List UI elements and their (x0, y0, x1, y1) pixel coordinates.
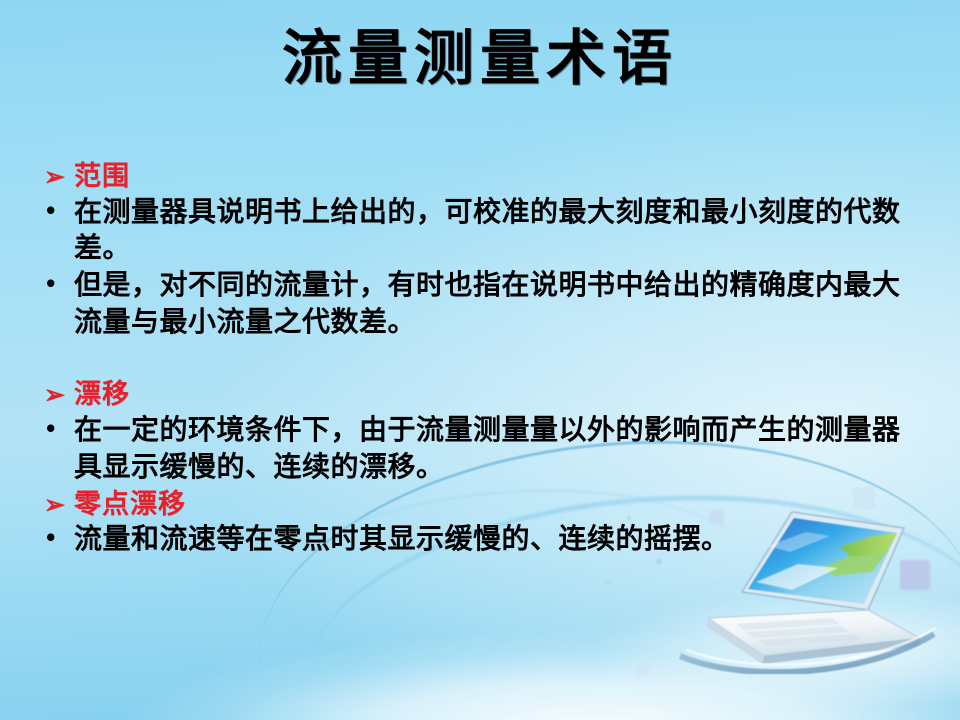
section-spacer (44, 340, 922, 378)
section-heading-scope: ➢ 范围 (44, 160, 922, 194)
arrow-bullet-icon: ➢ (44, 492, 74, 517)
section-heading-label: 漂移 (74, 378, 130, 412)
slide-canvas: 流量测量术语 ➢ 范围 • 在测量器具说明书上给出的，可校准的最大刻度和最小刻度… (0, 0, 960, 720)
list-item: • 在一定的环境条件下，由于流量测量量以外的影响而产生的测量器具显示缓慢的、连续… (44, 412, 922, 485)
section-heading-drift: ➢ 漂移 (44, 378, 922, 412)
list-item: • 在测量器具说明书上给出的，可校准的最大刻度和最小刻度的代数差。 (44, 194, 922, 267)
list-item: • 流量和流速等在零点时其显示缓慢的、连续的摇摆。 (44, 521, 922, 558)
section-heading-label: 零点漂移 (74, 488, 186, 522)
content-body: ➢ 范围 • 在测量器具说明书上给出的，可校准的最大刻度和最小刻度的代数差。 •… (44, 160, 922, 558)
list-item-text: 流量和流速等在零点时其显示缓慢的、连续的摇摆。 (74, 521, 922, 558)
list-item: • 但是，对不同的流量计，有时也指在说明书中给出的精确度内最大流量与最小流量之代… (44, 267, 922, 340)
list-item-text: 但是，对不同的流量计，有时也指在说明书中给出的精确度内最大流量与最小流量之代数差… (74, 267, 922, 340)
arrow-bullet-icon: ➢ (44, 164, 74, 189)
dot-bullet-icon: • (44, 267, 74, 301)
section-drift: ➢ 漂移 • 在一定的环境条件下，由于流量测量量以外的影响而产生的测量器具显示缓… (44, 378, 922, 485)
bokeh-square-icon (900, 560, 930, 590)
section-heading-label: 范围 (74, 160, 130, 194)
section-heading-zero-drift: ➢ 零点漂移 (44, 488, 922, 522)
bokeh-square-icon (636, 664, 649, 677)
section-scope: ➢ 范围 • 在测量器具说明书上给出的，可校准的最大刻度和最小刻度的代数差。 •… (44, 160, 922, 340)
section-zero-drift: ➢ 零点漂移 • 流量和流速等在零点时其显示缓慢的、连续的摇摆。 (44, 488, 922, 558)
dot-bullet-icon: • (44, 412, 74, 446)
page-title: 流量测量术语 (0, 26, 960, 93)
dot-bullet-icon: • (44, 194, 74, 228)
list-item-text: 在测量器具说明书上给出的，可校准的最大刻度和最小刻度的代数差。 (74, 194, 922, 267)
dot-bullet-icon: • (44, 521, 74, 555)
arrow-bullet-icon: ➢ (44, 382, 74, 407)
list-item-text: 在一定的环境条件下，由于流量测量量以外的影响而产生的测量器具显示缓慢的、连续的漂… (74, 412, 922, 485)
